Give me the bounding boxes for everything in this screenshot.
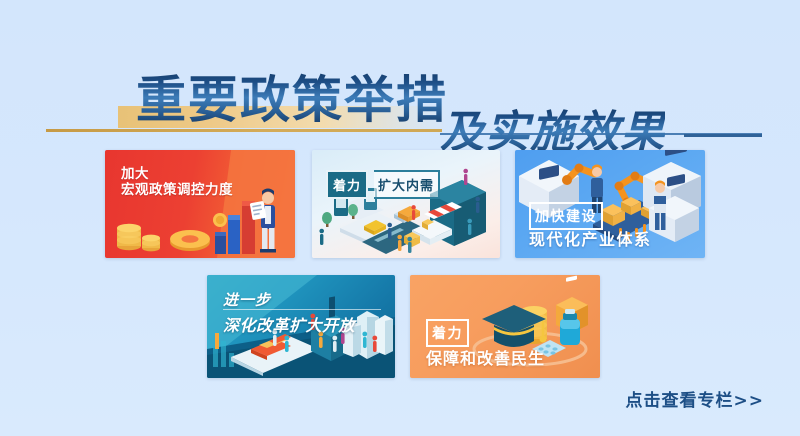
card-kuoda-neixu[interactable]: 着力 扩大内需 (312, 150, 500, 258)
card3-caption: 现代化产业体系 (529, 226, 652, 250)
title-gold-rule (46, 129, 442, 132)
card1-caption: 加大 宏观政策调控力度 (121, 166, 233, 199)
card2-badge: 着力 (326, 170, 368, 199)
city-commerce-isometric-icon (312, 150, 500, 258)
card-baozhang-minsheng[interactable]: 着力 保障和改善民生 (410, 275, 600, 378)
card1-line1: 加大 (121, 166, 149, 182)
page-root: 重要政策举措 及实施效果 (0, 0, 800, 436)
page-header: 重要政策举措 及实施效果 (0, 34, 800, 134)
card5-caption: 保障和改善民生 (426, 345, 545, 369)
page-title-main: 重要政策举措 (136, 72, 448, 128)
card1-line2: 宏观政策调控力度 (121, 182, 233, 198)
title-blue-rule-end (684, 134, 762, 137)
card-jiakuai-jianshe[interactable]: 加快建设 现代化产业体系 (515, 150, 705, 258)
card-jiada-hongguan[interactable]: 加大 宏观政策调控力度 (105, 150, 295, 258)
card2-caption: 扩大内需 (374, 170, 440, 199)
view-column-link[interactable]: 点击查看专栏>> (626, 386, 765, 411)
card4-divider (223, 309, 381, 310)
card5-badge: 着力 (426, 319, 469, 347)
card4-line1: 进一步 (223, 289, 271, 310)
card2-illustration (312, 150, 500, 258)
card4-line2: 深化改革扩大开放 (223, 312, 355, 336)
card-shenhua-gaige[interactable]: 进一步 深化改革扩大开放 (207, 275, 395, 378)
